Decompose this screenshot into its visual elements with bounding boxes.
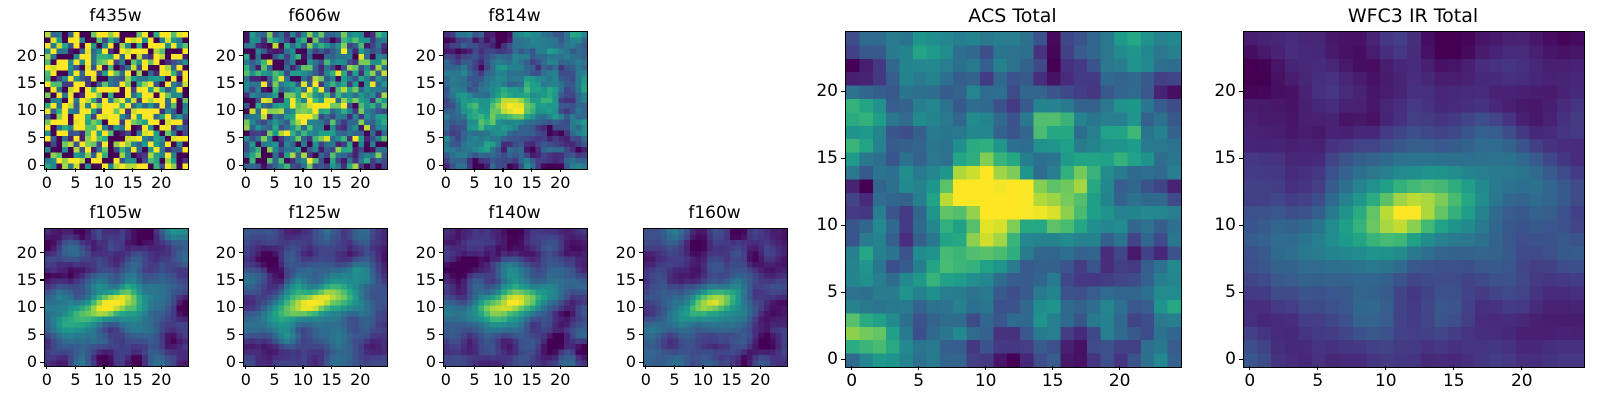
x-tick	[702, 365, 703, 369]
y-tick	[639, 279, 643, 280]
panel-title: WFC3 IR Total	[1243, 5, 1583, 27]
panel-title: f140w	[443, 202, 586, 224]
y-tick-label: 5	[397, 128, 436, 148]
panel-title: f105w	[44, 202, 187, 224]
y-tick	[639, 307, 643, 308]
panel-title: f160w	[643, 202, 786, 224]
heatmap-image	[845, 31, 1182, 368]
panel-f606w: f606w0510152005101520	[197, 5, 386, 194]
y-tick-label: 5	[1197, 282, 1236, 302]
y-tick-label: 0	[0, 352, 37, 372]
y-tick	[1239, 225, 1243, 226]
y-tick	[841, 225, 845, 226]
x-tick	[75, 168, 76, 172]
panel-f435w: f435w0510152005101520	[0, 5, 187, 194]
y-tick-label: 10	[197, 100, 236, 120]
y-tick-label: 15	[0, 73, 37, 93]
y-tick-label: 20	[0, 243, 37, 263]
x-tick	[531, 168, 532, 172]
y-tick	[439, 334, 443, 335]
y-tick	[841, 359, 845, 360]
x-tick-label: 10	[961, 371, 1011, 391]
x-tick	[245, 168, 246, 172]
heatmap-canvas	[45, 229, 188, 366]
y-tick	[239, 82, 243, 83]
heatmap-canvas	[444, 229, 587, 366]
x-tick	[274, 365, 275, 369]
heatmap-image	[44, 31, 189, 170]
y-tick	[639, 334, 643, 335]
y-tick	[439, 110, 443, 111]
x-tick	[1453, 366, 1454, 370]
y-tick	[439, 362, 443, 363]
x-tick	[331, 168, 332, 172]
y-tick-label: 10	[397, 297, 436, 317]
panel-f160w: f160w0510152005101520	[597, 202, 786, 391]
heatmap-canvas	[244, 229, 387, 366]
x-tick-label: 20	[535, 173, 585, 193]
y-tick	[1239, 91, 1243, 92]
x-tick	[302, 168, 303, 172]
y-tick	[639, 252, 643, 253]
y-tick-label: 15	[397, 73, 436, 93]
y-tick	[1239, 158, 1243, 159]
x-tick-label: 20	[136, 173, 186, 193]
x-tick	[360, 168, 361, 172]
panel-f105w: f105w0510152005101520	[0, 202, 187, 391]
y-tick	[239, 55, 243, 56]
y-tick	[439, 279, 443, 280]
x-tick	[760, 365, 761, 369]
heatmap-image	[243, 31, 388, 170]
x-tick-label: 0	[1225, 371, 1275, 391]
y-tick-label: 10	[0, 100, 37, 120]
x-tick	[161, 168, 162, 172]
y-tick	[439, 82, 443, 83]
y-tick-label: 0	[197, 155, 236, 175]
y-tick	[40, 82, 44, 83]
y-tick-label: 20	[397, 46, 436, 66]
x-tick	[103, 168, 104, 172]
heatmap-image	[443, 31, 588, 170]
y-tick	[239, 279, 243, 280]
x-tick-label: 15	[1028, 371, 1078, 391]
y-tick	[439, 307, 443, 308]
x-tick	[46, 168, 47, 172]
x-tick	[302, 365, 303, 369]
y-tick-label: 0	[597, 352, 636, 372]
x-tick-label: 5	[1293, 371, 1343, 391]
y-tick-label: 5	[597, 325, 636, 345]
heatmap-canvas	[644, 229, 787, 366]
x-tick-label: 10	[1361, 371, 1411, 391]
y-tick-label: 20	[1197, 81, 1236, 101]
x-tick-label: 20	[335, 173, 385, 193]
y-tick-label: 15	[597, 270, 636, 290]
y-tick-label: 5	[0, 128, 37, 148]
heatmap-image	[44, 228, 189, 367]
y-tick-label: 0	[799, 349, 838, 369]
y-tick	[1239, 292, 1243, 293]
y-tick-label: 20	[0, 46, 37, 66]
x-tick-label: 20	[1497, 371, 1547, 391]
panel-title: ACS Total	[845, 5, 1180, 27]
y-tick	[40, 165, 44, 166]
y-tick-label: 20	[799, 81, 838, 101]
y-tick	[40, 55, 44, 56]
x-tick	[474, 168, 475, 172]
y-tick-label: 20	[597, 243, 636, 263]
panel-f125w: f125w0510152005101520	[197, 202, 386, 391]
y-tick	[40, 110, 44, 111]
y-tick	[439, 165, 443, 166]
x-tick	[75, 365, 76, 369]
y-tick	[239, 252, 243, 253]
y-tick	[439, 137, 443, 138]
heatmap-canvas	[444, 32, 587, 169]
x-tick	[161, 365, 162, 369]
x-tick	[731, 365, 732, 369]
x-tick	[132, 168, 133, 172]
x-tick	[132, 365, 133, 369]
y-tick	[239, 110, 243, 111]
y-tick-label: 10	[1197, 215, 1236, 235]
x-tick	[1317, 366, 1318, 370]
y-tick	[40, 362, 44, 363]
y-tick	[239, 165, 243, 166]
heatmap-image	[1243, 31, 1585, 368]
y-tick-label: 5	[197, 325, 236, 345]
x-tick	[274, 168, 275, 172]
y-tick-label: 15	[197, 73, 236, 93]
x-tick	[245, 365, 246, 369]
y-tick-label: 15	[1197, 148, 1236, 168]
panel-f814w: f814w0510152005101520	[397, 5, 586, 194]
x-tick-label: 15	[1429, 371, 1479, 391]
y-tick	[40, 252, 44, 253]
x-tick	[985, 366, 986, 370]
heatmap-image	[643, 228, 788, 367]
y-tick	[439, 252, 443, 253]
y-tick	[1239, 359, 1243, 360]
x-tick	[1521, 366, 1522, 370]
x-tick	[645, 365, 646, 369]
y-tick	[239, 137, 243, 138]
y-tick-label: 10	[397, 100, 436, 120]
x-tick-label: 5	[894, 371, 944, 391]
x-tick	[502, 168, 503, 172]
y-tick-label: 0	[397, 155, 436, 175]
y-tick-label: 15	[799, 148, 838, 168]
y-tick-label: 0	[0, 155, 37, 175]
x-tick	[674, 365, 675, 369]
y-tick-label: 20	[197, 243, 236, 263]
y-tick	[841, 158, 845, 159]
x-tick	[560, 365, 561, 369]
y-tick	[841, 91, 845, 92]
x-tick	[474, 365, 475, 369]
x-tick	[1052, 366, 1053, 370]
y-tick-label: 10	[799, 215, 838, 235]
y-tick-label: 10	[197, 297, 236, 317]
x-tick	[560, 168, 561, 172]
y-tick	[239, 307, 243, 308]
x-tick-label: 20	[1095, 371, 1145, 391]
x-tick	[103, 365, 104, 369]
y-tick	[841, 292, 845, 293]
y-tick-label: 5	[197, 128, 236, 148]
y-tick	[40, 137, 44, 138]
y-tick-label: 20	[197, 46, 236, 66]
x-tick	[46, 365, 47, 369]
x-tick	[360, 365, 361, 369]
x-tick	[331, 365, 332, 369]
y-tick	[40, 279, 44, 280]
y-tick-label: 15	[0, 270, 37, 290]
x-tick-label: 20	[735, 370, 785, 390]
y-tick	[439, 55, 443, 56]
y-tick-label: 10	[597, 297, 636, 317]
x-tick	[1119, 366, 1120, 370]
x-tick	[1385, 366, 1386, 370]
y-tick-label: 10	[0, 297, 37, 317]
y-tick	[239, 334, 243, 335]
y-tick-label: 15	[197, 270, 236, 290]
panel-title: f814w	[443, 5, 586, 27]
x-tick-label: 20	[335, 370, 385, 390]
y-tick-label: 0	[1197, 349, 1236, 369]
x-tick	[1249, 366, 1250, 370]
y-tick	[639, 362, 643, 363]
x-tick	[918, 366, 919, 370]
x-tick	[445, 365, 446, 369]
y-tick-label: 0	[197, 352, 236, 372]
x-tick	[502, 365, 503, 369]
panel-wfc3-ir-total: WFC3 IR Total0510152005101520	[1197, 5, 1583, 392]
heatmap-image	[243, 228, 388, 367]
x-tick	[531, 365, 532, 369]
heatmap-image	[443, 228, 588, 367]
x-tick	[445, 168, 446, 172]
y-tick-label: 0	[397, 352, 436, 372]
x-tick-label: 20	[136, 370, 186, 390]
y-tick-label: 5	[397, 325, 436, 345]
x-tick-label: 0	[827, 371, 877, 391]
y-tick-label: 15	[397, 270, 436, 290]
panel-f140w: f140w0510152005101520	[397, 202, 586, 391]
y-tick-label: 5	[799, 282, 838, 302]
panel-title: f606w	[243, 5, 386, 27]
x-tick-label: 20	[535, 370, 585, 390]
y-tick	[239, 362, 243, 363]
x-tick	[851, 366, 852, 370]
y-tick	[40, 307, 44, 308]
panel-acs-total: ACS Total0510152005101520	[799, 5, 1180, 392]
heatmap-canvas	[244, 32, 387, 169]
heatmap-canvas	[45, 32, 188, 169]
heatmap-canvas	[1244, 32, 1584, 367]
heatmap-canvas	[846, 32, 1181, 367]
y-tick	[40, 334, 44, 335]
y-tick-label: 20	[397, 243, 436, 263]
panel-title: f435w	[44, 5, 187, 27]
y-tick-label: 5	[0, 325, 37, 345]
panel-title: f125w	[243, 202, 386, 224]
